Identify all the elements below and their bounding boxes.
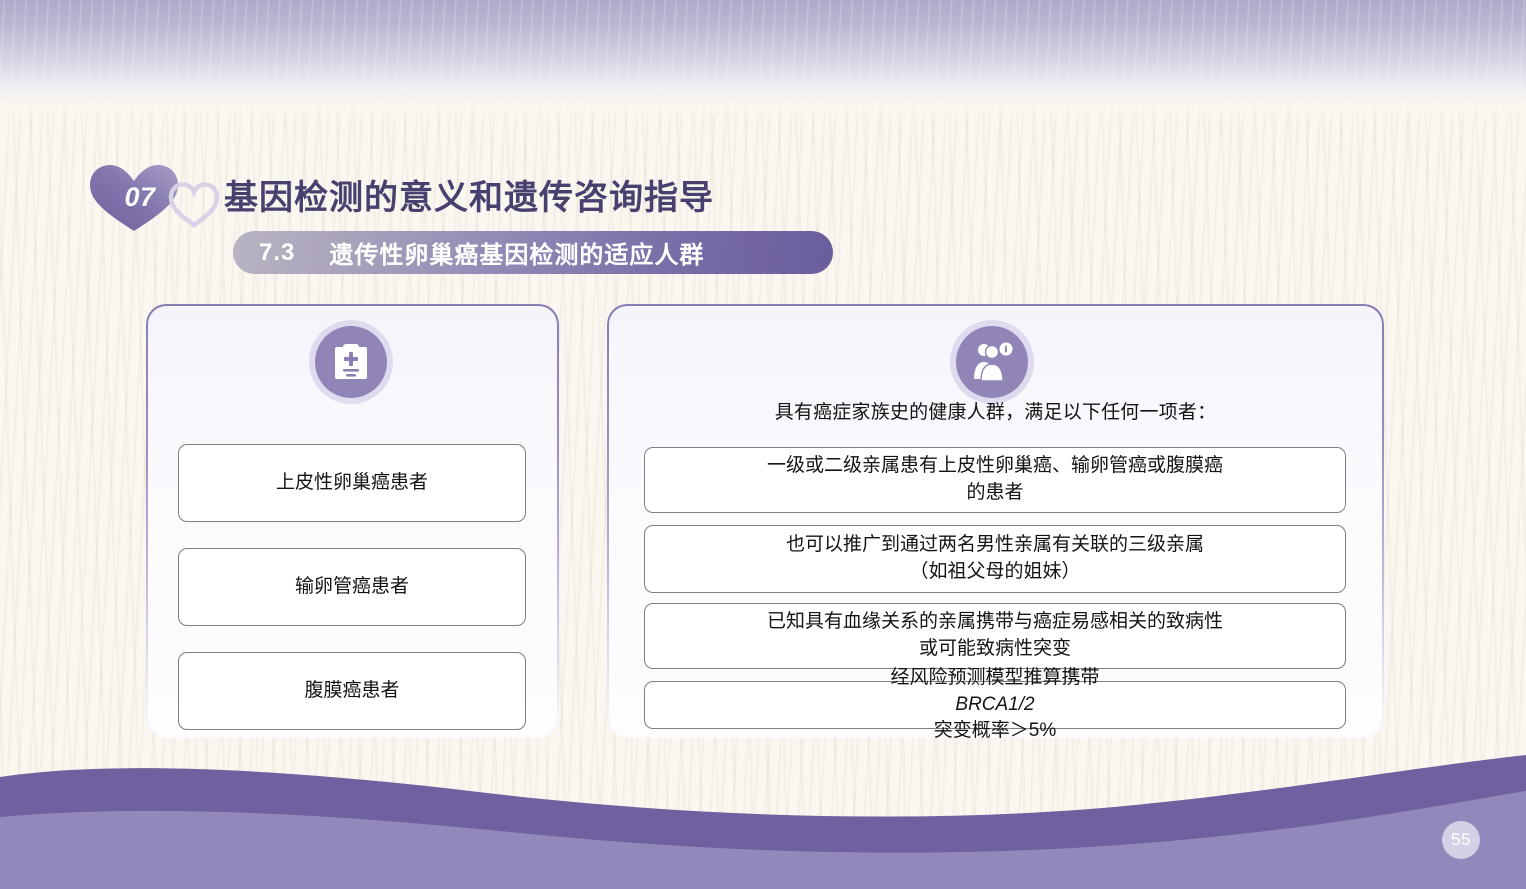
criterion-brca-line: 经风险预测模型推算携带BRCA1/2突变概率＞5% bbox=[659, 665, 1331, 746]
slide-canvas: 07 基因检测的意义和遗传咨询指导 7.3 遗传性卵巢癌基因检测的适应人群 上皮… bbox=[0, 0, 1526, 889]
heart-outline-icon bbox=[168, 181, 220, 229]
bottom-wave-decoration bbox=[0, 729, 1526, 889]
list-item: 输卵管癌患者 bbox=[178, 548, 526, 626]
subsection-title: 遗传性卵巢癌基因检测的适应人群 bbox=[329, 235, 704, 270]
section-number-heart-badge: 07 bbox=[88, 161, 180, 233]
criterion-line-2: 或可能致病性突变 bbox=[659, 636, 1331, 663]
list-item: 上皮性卵巢癌患者 bbox=[178, 444, 526, 522]
patient-type-label: 上皮性卵巢癌患者 bbox=[276, 470, 428, 497]
clipboard-report-icon bbox=[315, 326, 387, 398]
list-item: 一级或二级亲属患有上皮性卵巢癌、输卵管癌或腹膜癌 的患者 bbox=[644, 447, 1346, 513]
top-band-texture bbox=[0, 0, 1526, 118]
gene-name-label: BRCA1/2 bbox=[659, 692, 1331, 719]
line-1 bbox=[343, 369, 359, 372]
page-number-label: 55 bbox=[1451, 830, 1471, 850]
criterion-prefix: 经风险预测模型推算携带 bbox=[659, 665, 1331, 692]
person-front-body bbox=[981, 364, 1003, 381]
line-2 bbox=[346, 374, 356, 377]
subsection-pill: 7.3 遗传性卵巢癌基因检测的适应人群 bbox=[233, 231, 833, 274]
section-number-label: 07 bbox=[88, 161, 180, 233]
family-history-intro: 具有癌症家族史的健康人群，满足以下任何一项者： bbox=[607, 397, 1384, 424]
criterion-line-1: 一级或二级亲属患有上皮性卵巢癌、输卵管癌或腹膜癌 bbox=[659, 453, 1331, 480]
criterion-line-1: 也可以推广到通过两名男性亲属有关联的三级亲属 bbox=[659, 532, 1331, 559]
heart-outline-path bbox=[171, 185, 217, 226]
criterion-suffix: 突变概率＞5% bbox=[659, 718, 1331, 745]
list-item: 腹膜癌患者 bbox=[178, 652, 526, 730]
list-item: 经风险预测模型推算携带BRCA1/2突变概率＞5% bbox=[644, 681, 1346, 729]
patient-type-label: 腹膜癌患者 bbox=[304, 678, 399, 705]
criterion-line-2: （如祖父母的姐妹） bbox=[659, 559, 1331, 586]
person-front-head bbox=[986, 346, 999, 359]
criterion-line-1: 已知具有血缘关系的亲属携带与癌症易感相关的致病性 bbox=[659, 609, 1331, 636]
speech-bubble-mark bbox=[1005, 346, 1007, 353]
subsection-number: 7.3 bbox=[259, 239, 295, 267]
criterion-line-2: 的患者 bbox=[659, 480, 1331, 507]
page-number-badge: 55 bbox=[1442, 821, 1480, 859]
patient-type-label: 输卵管癌患者 bbox=[295, 574, 409, 601]
list-item: 已知具有血缘关系的亲属携带与癌症易感相关的致病性 或可能致病性突变 bbox=[644, 603, 1346, 669]
family-people-icon bbox=[956, 326, 1028, 398]
plus-horizontal bbox=[344, 357, 358, 361]
list-item: 也可以推广到通过两名男性亲属有关联的三级亲属 （如祖父母的姐妹） bbox=[644, 525, 1346, 593]
page-title: 基因检测的意义和遗传咨询指导 bbox=[224, 170, 714, 219]
